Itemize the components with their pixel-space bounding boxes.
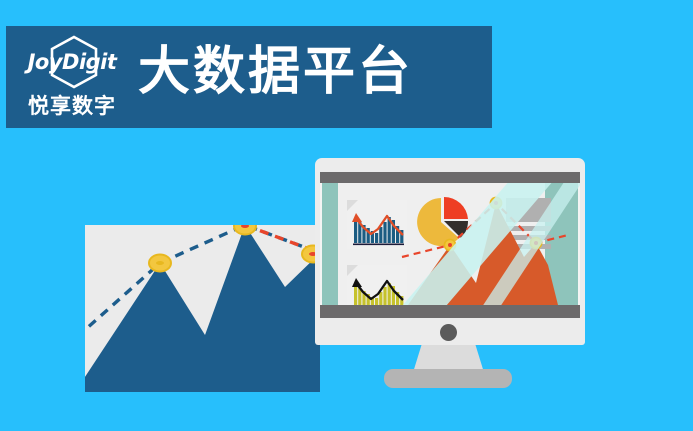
- left-panel-chart: [85, 225, 320, 392]
- data-marker: [490, 197, 501, 208]
- poster-canvas: JoyDigit 悦享数字 大数据平台: [0, 0, 693, 431]
- data-marker: [444, 239, 455, 250]
- mountain-peak-left: [408, 245, 490, 305]
- data-marker: [149, 255, 171, 272]
- monitor-bezel-top: [320, 172, 580, 183]
- left-mountain-panel: [85, 225, 320, 392]
- data-marker: [530, 237, 541, 248]
- brand-wordmark: JoyDigit: [14, 50, 130, 74]
- mountain-silhouette: [85, 225, 320, 392]
- monitor-screen: [320, 183, 580, 305]
- monitor-indicator-dot: [440, 324, 457, 341]
- brand-logo: JoyDigit 悦享数字: [14, 32, 130, 124]
- brand-subtitle: 悦享数字: [14, 90, 130, 120]
- monitor-bezel-bottom: [320, 305, 580, 318]
- monitor-stand-base: [384, 369, 512, 388]
- page-title: 大数据平台: [138, 42, 413, 102]
- data-marker: [234, 225, 256, 235]
- widget-mountain-chart[interactable]: [320, 183, 580, 305]
